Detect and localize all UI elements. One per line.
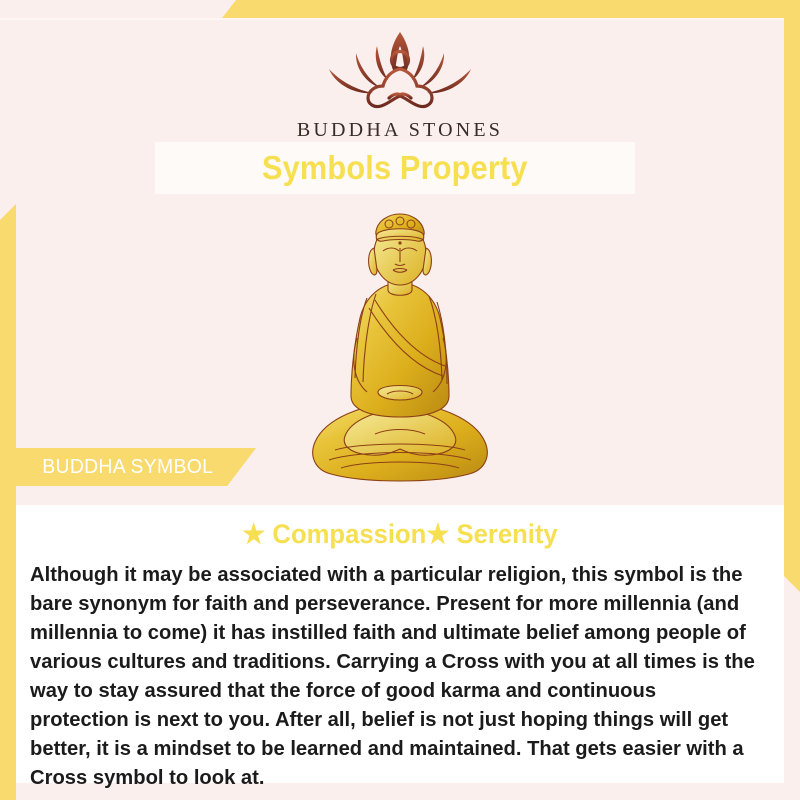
content-panel: ★ Compassion★ Serenity Although it may b…	[16, 505, 784, 783]
content-paragraph: Although it may be associated with a par…	[30, 560, 759, 792]
title-band: Symbols Property	[155, 142, 635, 194]
page-title: Symbols Property	[262, 149, 528, 187]
brand-name: BUDDHA STONES	[0, 119, 800, 142]
content-subtitle: ★ Compassion★ Serenity	[35, 519, 765, 550]
decor-hairline	[0, 18, 784, 20]
seated-golden-buddha-statue-icon	[305, 198, 495, 490]
section-badge: BUDDHA SYMBOL	[16, 448, 256, 486]
brand-logo: BUDDHA STONES	[0, 22, 800, 142]
section-badge-label: BUDDHA SYMBOL	[19, 456, 213, 479]
lotus-meditation-icon	[315, 22, 485, 117]
poster-canvas: BUDDHA STONES Symbols Property	[0, 0, 800, 800]
decor-bar-top	[222, 0, 800, 18]
